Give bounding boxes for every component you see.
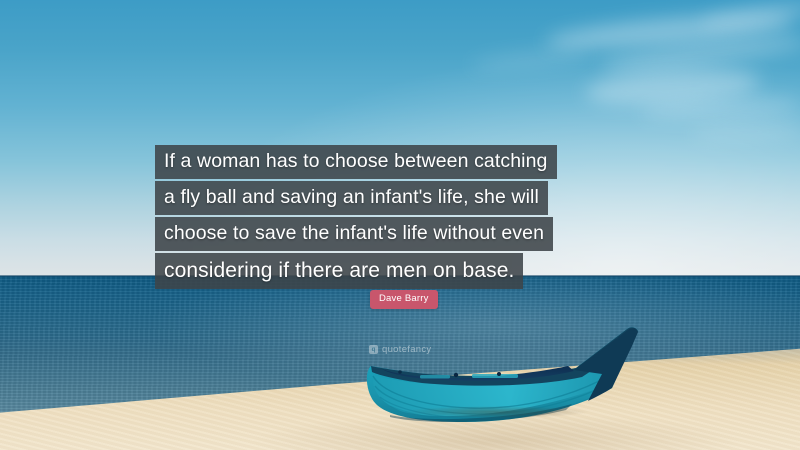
quote-line: If a woman has to choose between catchin… (155, 145, 557, 179)
quote-text-block: If a woman has to choose between catchin… (155, 145, 655, 291)
quote-line: considering if there are men on base. (155, 253, 523, 289)
author-badge: Dave Barry (370, 290, 438, 309)
rowboat (360, 318, 650, 428)
quote-line: a fly ball and saving an infant's life, … (155, 181, 548, 215)
watermark-label: quotefancy (382, 344, 431, 355)
quote-line: choose to save the infant's life without… (155, 217, 553, 251)
watermark: q quotefancy (369, 344, 431, 355)
quotefancy-logo-icon: q (369, 345, 378, 354)
quote-poster-image: If a woman has to choose between catchin… (0, 0, 800, 450)
boat-shadow (370, 404, 620, 420)
